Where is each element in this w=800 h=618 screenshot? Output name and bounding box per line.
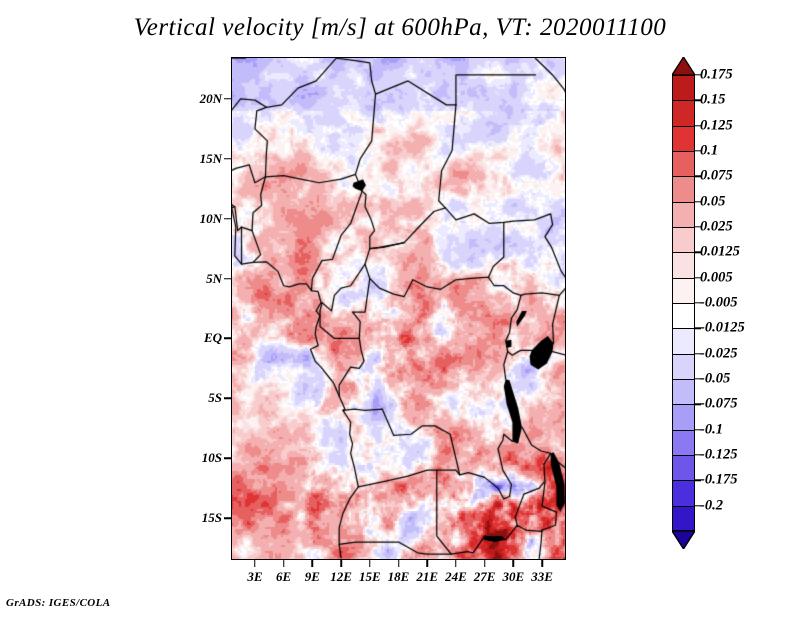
colorbar-extend-bottom-arrow — [672, 531, 695, 549]
x-axis-tick-label: 15E — [359, 569, 381, 585]
x-axis-tick-mark — [283, 560, 285, 567]
x-axis-tick-mark — [455, 560, 457, 567]
y-axis-tick-mark — [224, 457, 231, 459]
colorbar-segment — [672, 430, 695, 455]
colorbar-tick — [695, 302, 701, 303]
colorbar-tick — [695, 404, 701, 405]
y-axis-tick-label: 15S — [202, 510, 222, 526]
x-axis-tick-label: 21E — [416, 569, 438, 585]
colorbar-tick — [695, 277, 701, 278]
colorbar-tick — [695, 226, 701, 227]
x-axis-tick-mark — [426, 560, 428, 567]
colorbar-segment — [672, 480, 695, 505]
colorbar-segment — [672, 100, 695, 125]
x-axis-tick-mark — [541, 560, 543, 567]
colorbar-label: 0.0125 — [700, 244, 740, 261]
colorbar-label: 0.125 — [700, 117, 733, 134]
x-axis-tick-mark — [254, 560, 256, 567]
page-title: Vertical velocity [m/s] at 600hPa, VT: 2… — [0, 14, 800, 42]
colorbar: 0.1750.150.1250.10.0750.050.0250.01250.0… — [672, 57, 695, 549]
x-axis-tick-label: 24E — [445, 569, 467, 585]
colorbar-label: 0.005 — [700, 269, 733, 286]
y-axis-tick-label: 5N — [206, 271, 222, 287]
colorbar-tick — [695, 353, 701, 354]
colorbar-segment — [672, 354, 695, 379]
y-axis-tick-label: 15N — [200, 151, 222, 167]
colorbar-tick — [695, 328, 701, 329]
y-axis-tick-mark — [224, 338, 231, 340]
colorbar-label: 0.1 — [700, 143, 718, 160]
x-axis-tick-label: 33E — [531, 569, 553, 585]
colorbar-label: 0.15 — [700, 92, 725, 109]
colorbar-label: 0.175 — [700, 67, 733, 84]
colorbar-segment — [672, 202, 695, 227]
y-axis-tick-mark — [224, 278, 231, 280]
colorbar-label: -0.025 — [700, 345, 737, 362]
colorbar-label: -0.005 — [700, 295, 737, 312]
y-axis-tick-mark — [224, 158, 231, 160]
x-axis-tick-mark — [398, 560, 400, 567]
colorbar-segment — [672, 227, 695, 252]
colorbar-segment — [672, 126, 695, 151]
x-axis-tick-label: 30E — [503, 569, 525, 585]
colorbar-label: -0.05 — [700, 371, 730, 388]
colorbar-segment — [672, 151, 695, 176]
y-axis-tick-mark — [224, 398, 231, 400]
colorbar-segment — [672, 278, 695, 303]
x-axis-tick-mark — [369, 560, 371, 567]
x-axis-tick-label: 6E — [276, 569, 291, 585]
x-axis-tick-label: 3E — [247, 569, 262, 585]
colorbar-tick — [695, 378, 701, 379]
colorbar-tick — [695, 505, 701, 506]
colorbar-tick — [695, 252, 701, 253]
colorbar-label: -0.0125 — [700, 320, 745, 337]
y-axis-tick-label: 20N — [200, 91, 222, 107]
attribution-footer: GrADS: IGES/COLA — [6, 597, 111, 609]
x-axis-tick-label: 12E — [330, 569, 352, 585]
colorbar-tick — [695, 74, 701, 75]
colorbar-segment — [672, 455, 695, 480]
y-axis-tick-mark — [224, 517, 231, 519]
colorbar-tick — [695, 100, 701, 101]
plot-frame — [231, 57, 566, 560]
colorbar-label: -0.075 — [700, 396, 737, 413]
x-axis-tick-mark — [312, 560, 314, 567]
x-axis-tick-mark — [513, 560, 515, 567]
colorbar-tick — [695, 125, 701, 126]
x-axis-tick-label: 9E — [305, 569, 320, 585]
colorbar-extend-top-arrow — [672, 57, 695, 75]
colorbar-tick — [695, 176, 701, 177]
map-plot-area: 20N15N10N5NEQ5S10S15S 3E6E9E12E15E18E21E… — [231, 57, 566, 560]
x-axis-tick-label: 27E — [474, 569, 496, 585]
colorbar-label: -0.175 — [700, 472, 737, 489]
colorbar-segment — [672, 379, 695, 404]
y-axis-tick-label: 5S — [208, 390, 222, 406]
colorbar-tick — [695, 429, 701, 430]
colorbar-segment — [672, 303, 695, 328]
x-axis-tick-mark — [340, 560, 342, 567]
colorbar-segment — [672, 252, 695, 277]
colorbar-segment — [672, 506, 695, 531]
colorbar-segment — [672, 404, 695, 429]
colorbar-segment — [672, 328, 695, 353]
x-axis-tick-label: 18E — [388, 569, 410, 585]
colorbar-label: 0.05 — [700, 193, 725, 210]
colorbar-label: -0.1 — [700, 421, 723, 438]
colorbar-tick — [695, 480, 701, 481]
colorbar-tick — [695, 454, 701, 455]
colorbar-label: 0.075 — [700, 168, 733, 185]
colorbar-label: 0.025 — [700, 219, 733, 236]
colorbar-segment — [672, 75, 695, 100]
y-axis-tick-label: EQ — [204, 330, 222, 346]
colorbar-label: -0.125 — [700, 447, 737, 464]
x-axis-tick-mark — [484, 560, 486, 567]
colorbar-segment — [672, 176, 695, 201]
colorbar-tick — [695, 201, 701, 202]
y-axis-tick-label: 10S — [202, 450, 222, 466]
y-axis-tick-mark — [224, 98, 231, 100]
colorbar-tick — [695, 150, 701, 151]
y-axis-tick-label: 10N — [200, 211, 222, 227]
y-axis-tick-mark — [224, 218, 231, 220]
colorbar-label: -0.2 — [700, 497, 723, 514]
